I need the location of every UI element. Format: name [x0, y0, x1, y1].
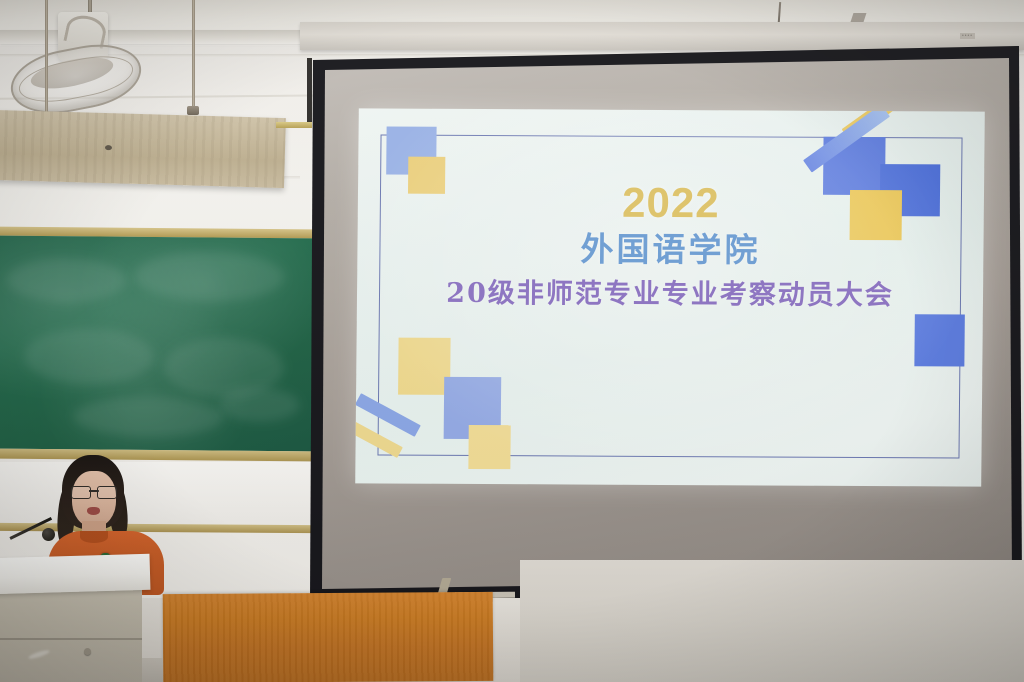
chalkboard-surface [0, 236, 313, 452]
podium-seam [0, 638, 142, 640]
presentation-slide: 2022 外国语学院 20级非师范专业专业考察动员大会 [355, 108, 985, 486]
slide-square-bottom-yellow-b [468, 425, 510, 469]
slide-headline: 20级非师范专业专业考察动员大会 [357, 277, 983, 311]
slide-year: 2022 [358, 180, 984, 225]
hanging-wooden-board [0, 110, 286, 188]
podium-knob [84, 648, 91, 655]
slide-square-right-mid-blue [914, 314, 964, 366]
mouth [87, 507, 100, 515]
chalkboard-assembly [0, 227, 313, 462]
face [72, 471, 116, 527]
classroom-photo-scene: •••• 2022 外国语学院 20级非师范专业专业考察动员大会 [0, 0, 1024, 682]
glasses-right-lens [97, 486, 117, 499]
board-hanger-rod-left [45, 0, 48, 118]
projection-screen-case[interactable]: •••• [300, 22, 1024, 50]
door-frame-edge [307, 58, 312, 126]
glasses-icon [71, 486, 117, 497]
slide-text-block: 2022 外国语学院 20级非师范专业专业考察动员大会 [357, 180, 984, 311]
board-bolt-right [187, 106, 199, 115]
wall-gold-trim [276, 122, 312, 128]
glasses-left-lens [71, 486, 91, 499]
podium-body [0, 586, 142, 682]
board-hanger-rod-right [192, 0, 195, 110]
lower-wall-right [520, 560, 1024, 682]
slide-square-bottom-yellow-a [398, 338, 451, 395]
microphone-icon [42, 528, 55, 541]
sweater-collar [80, 531, 108, 543]
screen-case-label: •••• [960, 33, 975, 39]
slide-college: 外国语学院 [357, 230, 983, 270]
podium-top-panel [0, 554, 150, 594]
wooden-desk-panel [163, 592, 494, 682]
